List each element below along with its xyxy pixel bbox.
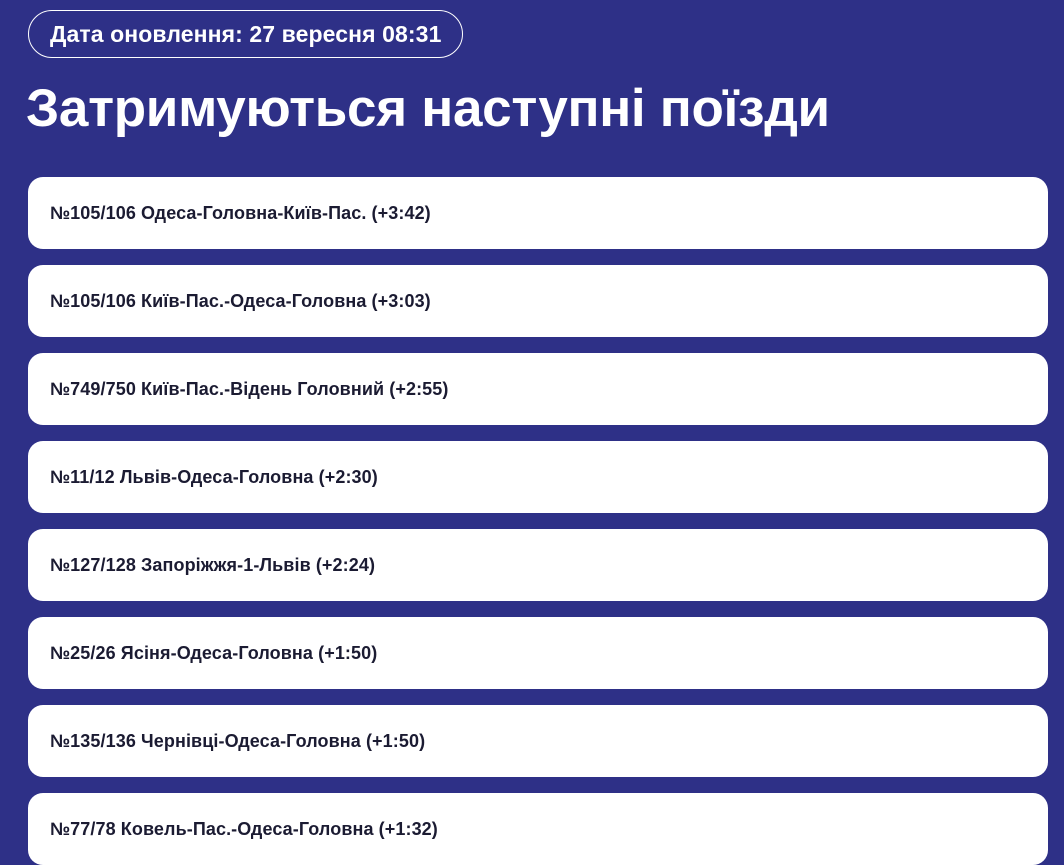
list-item[interactable]: №135/136 Чернівці-Одеса-Головна (+1:50) — [28, 705, 1048, 777]
train-delay-label: №135/136 Чернівці-Одеса-Головна (+1:50) — [50, 730, 425, 752]
page-title: Затримуються наступні поїзди — [26, 78, 830, 140]
train-delay-label: №77/78 Ковель-Пас.-Одеса-Головна (+1:32) — [50, 818, 438, 840]
list-item[interactable]: №105/106 Київ-Пас.-Одеса-Головна (+3:03) — [28, 265, 1048, 337]
list-item[interactable]: №77/78 Ковель-Пас.-Одеса-Головна (+1:32) — [28, 793, 1048, 865]
list-item[interactable]: №11/12 Львів-Одеса-Головна (+2:30) — [28, 441, 1048, 513]
delayed-trains-page: Дата оновлення: 27 вересня 08:31 Затриму… — [0, 0, 1064, 856]
train-delay-label: №105/106 Київ-Пас.-Одеса-Головна (+3:03) — [50, 290, 431, 312]
list-item[interactable]: №127/128 Запоріжжя-1-Львів (+2:24) — [28, 529, 1048, 601]
list-item[interactable]: №105/106 Одеса-Головна-Київ-Пас. (+3:42) — [28, 177, 1048, 249]
update-timestamp-label: Дата оновлення: 27 вересня 08:31 — [50, 23, 441, 46]
list-item[interactable]: №25/26 Ясіня-Одеса-Головна (+1:50) — [28, 617, 1048, 689]
update-timestamp-badge: Дата оновлення: 27 вересня 08:31 — [28, 10, 463, 58]
train-delay-label: №105/106 Одеса-Головна-Київ-Пас. (+3:42) — [50, 202, 431, 224]
train-delay-label: №25/26 Ясіня-Одеса-Головна (+1:50) — [50, 642, 377, 664]
train-delay-label: №749/750 Київ-Пас.-Відень Головний (+2:5… — [50, 378, 448, 400]
train-delay-label: №11/12 Львів-Одеса-Головна (+2:30) — [50, 466, 378, 488]
delayed-trains-list: №105/106 Одеса-Головна-Київ-Пас. (+3:42)… — [28, 177, 1048, 865]
train-delay-label: №127/128 Запоріжжя-1-Львів (+2:24) — [50, 554, 375, 576]
list-item[interactable]: №749/750 Київ-Пас.-Відень Головний (+2:5… — [28, 353, 1048, 425]
